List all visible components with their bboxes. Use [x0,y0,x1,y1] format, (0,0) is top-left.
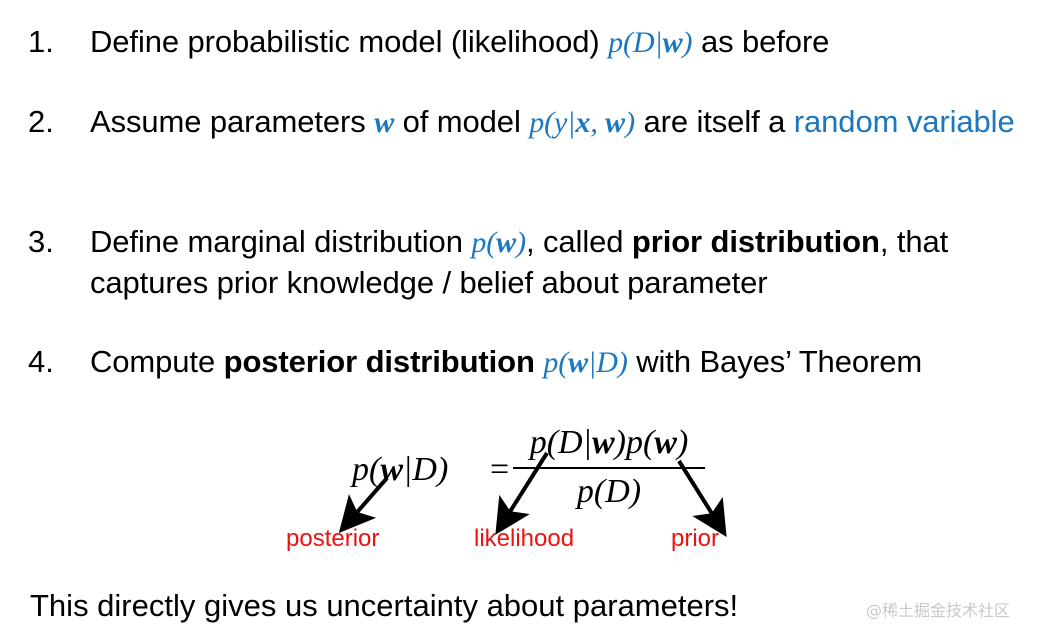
list-item-3-number: 3. [28,222,86,262]
math-symbol-x: x [575,106,590,139]
list-item-1-segment-b: as before [692,24,829,59]
math-symbol-p: p [529,106,544,139]
arrow-likelihood [506,453,547,518]
list-item-2-text: Assume parameters w of model p(y|x, w) a… [90,102,1032,143]
math-conditional-bar: | [654,26,662,59]
list-item-2-segment-b: of model [394,104,529,139]
conclusion-text: This directly gives us uncertainty about… [30,586,738,626]
term-prior-distribution: prior distribution [632,224,880,259]
math-p-w: p(w) [471,226,526,259]
math-p-w-given-d: p(w|D) [543,346,627,379]
math-symbol-w: w [663,26,683,59]
math-symbol-w: w [605,106,625,139]
math-symbol-w: w [496,226,516,259]
arrow-prior [679,461,716,520]
math-paren-close: ) [625,106,635,139]
math-symbol-p: p [608,26,623,59]
list-item-2-segment-a: Assume parameters [90,104,374,139]
math-paren-close: ) [618,346,628,379]
list-item-3-text: Define marginal distribution p(w), calle… [90,222,1032,303]
math-paren-open: ( [544,106,554,139]
list-item-3-segment-a: Define marginal distribution [90,224,471,259]
math-paren-close: ) [516,226,526,259]
math-paren-open: ( [558,346,568,379]
list-item-2: 2. Assume parameters w of model p(y|x, w… [28,102,1032,143]
slide-canvas: 1. Define probabilistic model (likelihoo… [0,0,1050,643]
list-item-3-segment-b: , called [526,224,632,259]
list-item-4-segment-c: with Bayes’ Theorem [628,344,922,379]
math-paren-open: ( [623,26,633,59]
math-comma: , [590,106,605,139]
math-symbol-p: p [543,346,558,379]
list-item-2-blue-tail: random variable [794,104,1015,139]
list-item-3: 3. Define marginal distribution p(w), ca… [28,222,1032,303]
watermark: @稀土掘金技术社区 [866,600,1010,622]
list-item-4: 4. Compute posterior distribution p(w|D)… [28,342,1032,383]
list-item-4-number: 4. [28,342,86,382]
list-item-1-number: 1. [28,22,86,62]
label-prior: prior [671,525,719,553]
label-likelihood: likelihood [474,525,574,553]
math-w-parameters: w [374,106,394,139]
math-p-d-given-w: p(D|w) [608,26,692,59]
list-item-1: 1. Define probabilistic model (likelihoo… [28,22,1032,63]
term-posterior-distribution: posterior distribution [224,344,535,379]
math-symbol-D: D [596,346,618,379]
math-symbol-p: p [471,226,486,259]
list-item-1-segment-a: Define probabilistic model (likelihood) [90,24,608,59]
list-item-2-number: 2. [28,102,86,142]
math-paren-close: ) [683,26,693,59]
math-paren-open: ( [486,226,496,259]
math-symbol-D: D [633,26,655,59]
label-posterior: posterior [286,525,379,553]
list-item-1-text: Define probabilistic model (likelihood) … [90,22,1032,63]
math-symbol-w: w [374,106,394,139]
math-p-y-given-x-w: p(y|x, w) [529,106,635,139]
list-item-4-text: Compute posterior distribution p(w|D) wi… [90,342,1032,383]
arrow-posterior [352,478,387,518]
math-symbol-y: y [554,106,567,139]
list-item-4-segment-a: Compute [90,344,224,379]
list-item-2-segment-c: are itself a [635,104,794,139]
math-symbol-w: w [568,346,588,379]
